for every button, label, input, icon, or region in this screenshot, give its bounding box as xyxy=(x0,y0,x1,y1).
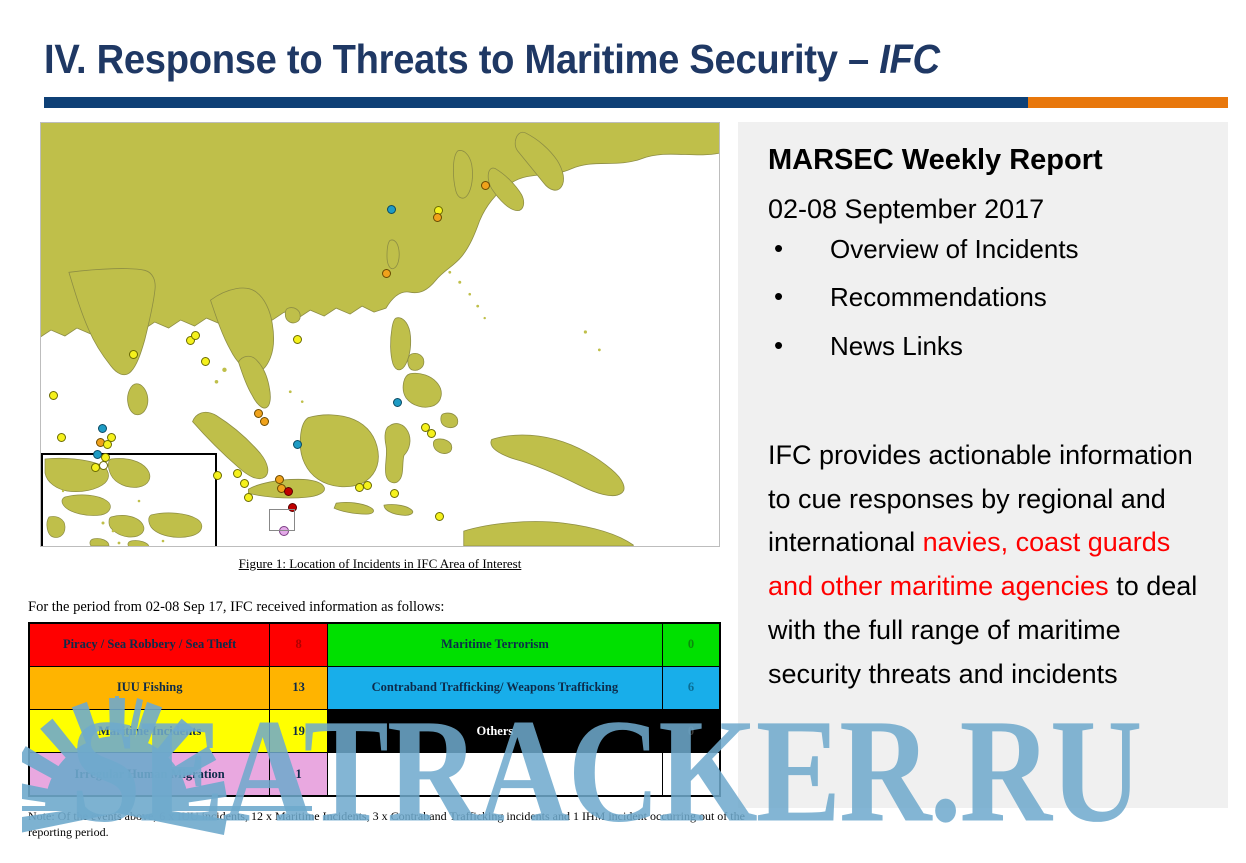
cell-piracy-label: Piracy / Sea Robbery / Sea Theft xyxy=(29,623,270,666)
incident-marker xyxy=(260,417,269,426)
table-row: Maritime Incidents 19 Others 0 xyxy=(29,710,720,753)
report-description: IFC provides actionable information to c… xyxy=(768,434,1198,696)
contraband-count: 6 xyxy=(688,680,694,694)
cell-others-value: 0 xyxy=(662,710,720,753)
cell-terrorism-label: Maritime Terrorism xyxy=(327,623,662,666)
marsec-report-panel: MARSEC Weekly Report 02-08 September 201… xyxy=(738,122,1228,808)
incident-marker xyxy=(481,181,490,190)
table-footnote: Note: Of the events above, 6 x IUU incid… xyxy=(28,808,748,840)
incident-marker xyxy=(390,489,399,498)
page-title: IV. Response to Threats to Maritime Secu… xyxy=(44,36,1151,83)
cell-ihm-value: 1 xyxy=(270,753,328,796)
cell-others-label: Others xyxy=(327,710,662,753)
incident-marker xyxy=(244,493,253,502)
incident-marker xyxy=(393,398,402,407)
map-inset-singapore-strait xyxy=(41,453,217,547)
cell-contraband-label: Contraband Trafficking/ Weapons Traffick… xyxy=(327,666,662,709)
list-item: •Recommendations xyxy=(768,284,1208,311)
list-item: •News Links xyxy=(768,333,1208,360)
divider-orange-segment xyxy=(1028,97,1228,108)
incident-marker xyxy=(427,429,436,438)
bullet-glyph: • xyxy=(774,332,783,359)
page-title-main: IV. Response to Threats to Maritime Secu… xyxy=(44,36,879,82)
list-item-label: Recommendations xyxy=(830,282,1047,312)
incident-marker xyxy=(293,440,302,449)
list-item-label: News Links xyxy=(830,331,963,361)
inset-callout-box xyxy=(269,509,295,531)
table-row: IUU Fishing 13 Contraband Trafficking/ W… xyxy=(29,666,720,709)
cell-maritime-incidents-value: 19 xyxy=(270,710,328,753)
incident-marker xyxy=(98,424,107,433)
bullet-glyph: • xyxy=(774,283,783,310)
report-date-range: 02-08 September 2017 xyxy=(768,194,1044,225)
table-row: Piracy / Sea Robbery / Sea Theft 8 Marit… xyxy=(29,623,720,666)
map-inset-svg xyxy=(43,455,217,547)
page-title-italic: IFC xyxy=(879,36,940,82)
cell-terrorism-value: 0 xyxy=(662,623,720,666)
figure-caption: Figure 1: Location of Incidents in IFC A… xyxy=(40,556,720,572)
incident-map-figure xyxy=(40,122,720,547)
cell-iuu-label: IUU Fishing xyxy=(29,666,270,709)
figure-caption-text: Figure 1: Location of Incidents in IFC A… xyxy=(239,556,522,571)
incident-marker xyxy=(191,331,200,340)
cell-iuu-value: 13 xyxy=(270,666,328,709)
incident-marker xyxy=(293,335,302,344)
incident-marker xyxy=(99,461,108,470)
incident-marker xyxy=(433,213,442,222)
report-title: MARSEC Weekly Report xyxy=(768,144,1103,177)
cell-empty-label xyxy=(327,753,662,796)
report-agenda-list: •Overview of Incidents •Recommendations … xyxy=(768,236,1208,381)
incident-marker xyxy=(213,471,222,480)
terrorism-count: 0 xyxy=(688,637,694,651)
incident-marker xyxy=(284,487,293,496)
incident-marker xyxy=(57,433,66,442)
list-item-label: Overview of Incidents xyxy=(830,234,1079,264)
cell-piracy-value: 8 xyxy=(270,623,328,666)
title-divider xyxy=(44,97,1228,108)
cell-empty-value xyxy=(662,753,720,796)
incident-marker xyxy=(435,512,444,521)
divider-navy-segment xyxy=(44,97,1028,108)
incident-marker xyxy=(275,475,284,484)
incident-marker xyxy=(129,350,138,359)
bullet-glyph: • xyxy=(774,235,783,262)
incident-marker xyxy=(233,469,242,478)
others-count: 0 xyxy=(688,724,694,738)
piracy-count: 8 xyxy=(295,637,301,651)
incident-marker xyxy=(382,269,391,278)
period-description: For the period from 02-08 Sep 17, IFC re… xyxy=(28,599,728,616)
incident-marker xyxy=(363,481,372,490)
table-row: Irregular Human Migration 1 xyxy=(29,753,720,796)
incident-marker xyxy=(240,479,249,488)
cell-maritime-incidents-label: Maritime Incidents xyxy=(29,710,270,753)
incident-marker xyxy=(387,205,396,214)
incident-marker xyxy=(107,433,116,442)
list-item: •Overview of Incidents xyxy=(768,236,1208,263)
incident-summary-table: Piracy / Sea Robbery / Sea Theft 8 Marit… xyxy=(28,622,721,797)
incident-marker xyxy=(49,391,58,400)
cell-ihm-label: Irregular Human Migration xyxy=(29,753,270,796)
incident-marker xyxy=(201,357,210,366)
cell-contraband-value: 6 xyxy=(662,666,720,709)
